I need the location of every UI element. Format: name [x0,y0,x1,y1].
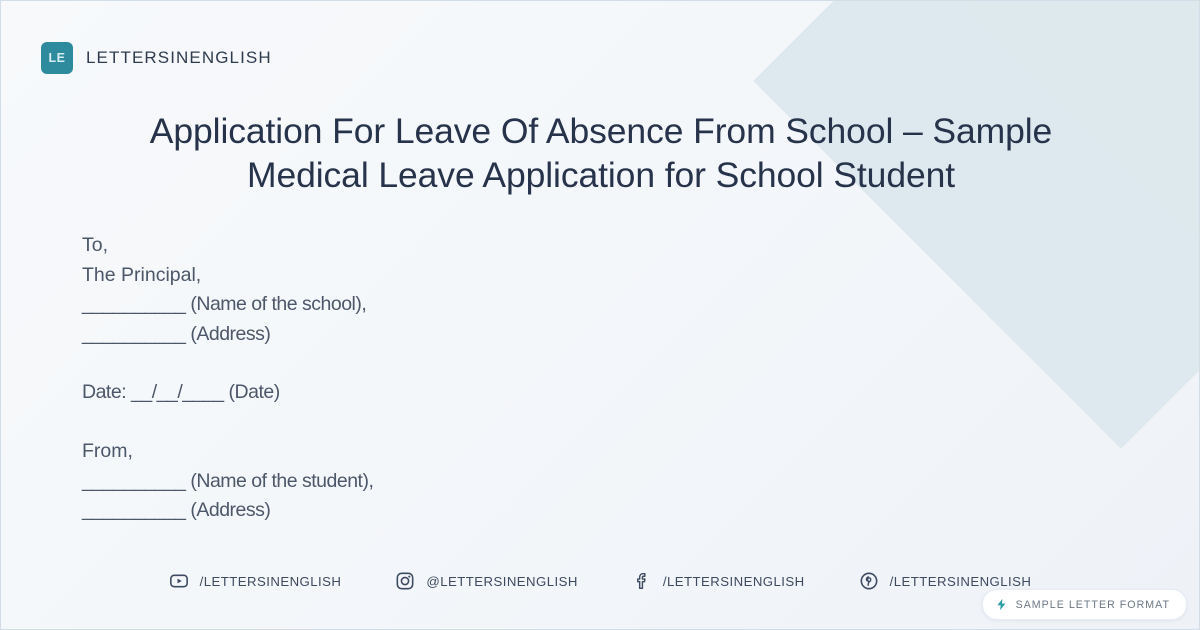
facebook-icon [632,571,652,591]
brand-name: LETTERSINENGLISH [86,48,272,68]
page-title: Application For Leave Of Absence From Sc… [81,109,1121,197]
letter-line-from: From, [82,437,373,467]
letter-line-to: To, [82,231,373,261]
letter-line-principal: The Principal, [82,261,373,291]
instagram-icon [395,571,415,591]
card-content: LE LETTERSINENGLISH Application For Leav… [1,1,1199,629]
sample-letter-format-label: SAMPLE LETTER FORMAT [1016,599,1170,611]
sample-letter-card: LE LETTERSINENGLISH Application For Leav… [0,0,1200,630]
pinterest-icon [859,571,879,591]
brand-badge-icon: LE [41,42,73,74]
social-link-facebook[interactable]: /LETTERSINENGLISH [632,571,805,591]
letter-spacer-2 [82,408,373,437]
social-link-instagram[interactable]: @LETTERSINENGLISH [395,571,577,591]
lightning-bolt-icon [995,597,1008,612]
youtube-icon [169,571,189,591]
letter-line-school-address: __________ (Address) [82,320,373,350]
social-handle-instagram: @LETTERSINENGLISH [426,574,577,589]
social-link-youtube[interactable]: /LETTERSINENGLISH [169,571,342,591]
letter-line-student-address: __________ (Address) [82,496,373,526]
letter-line-student-name: __________ (Name of the student), [82,467,373,497]
letter-body: To, The Principal, __________ (Name of t… [82,231,373,526]
social-footer: /LETTERSINENGLISH @LETTERSINENGLISH /LET… [1,571,1199,591]
letter-line-date: Date: __/__/____ (Date) [82,378,373,408]
letter-line-school-name: __________ (Name of the school), [82,290,373,320]
page-title-line-2: Medical Leave Application for School Stu… [247,155,955,195]
page-title-line-1: Application For Leave Of Absence From Sc… [150,111,1052,151]
social-handle-youtube: /LETTERSINENGLISH [200,574,342,589]
social-link-pinterest[interactable]: /LETTERSINENGLISH [859,571,1032,591]
letter-spacer-1 [82,349,373,378]
brand-logo[interactable]: LE LETTERSINENGLISH [41,42,272,74]
sample-letter-format-badge[interactable]: SAMPLE LETTER FORMAT [982,589,1187,620]
social-handle-pinterest: /LETTERSINENGLISH [890,574,1032,589]
social-handle-facebook: /LETTERSINENGLISH [663,574,805,589]
